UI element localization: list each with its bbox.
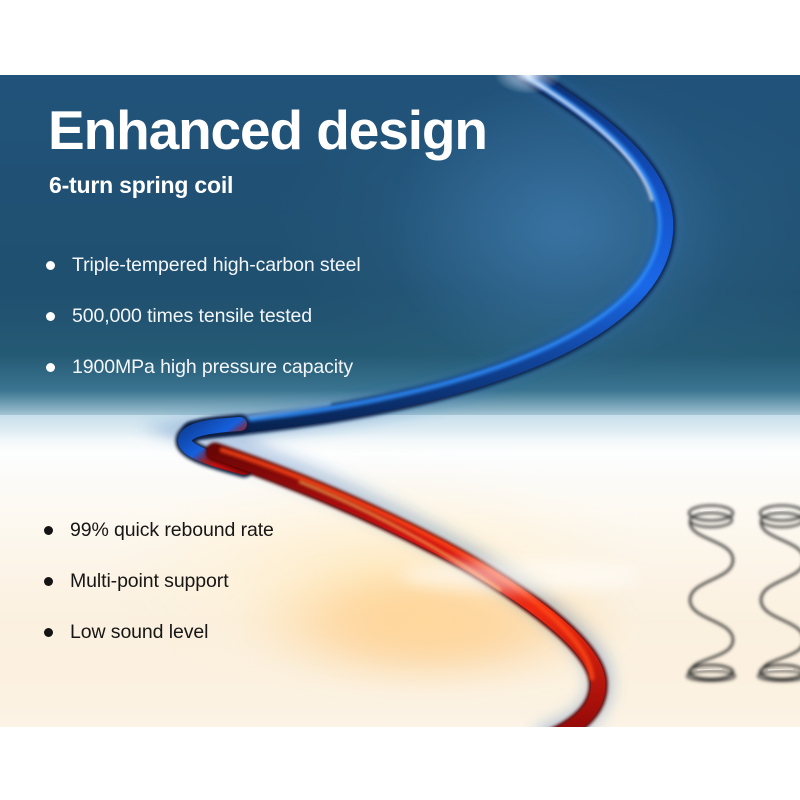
bullet-dot-icon [46, 312, 55, 321]
list-item-label: Multi-point support [70, 570, 229, 593]
page-subtitle: 6-turn spring coil [49, 172, 233, 199]
list-item-label: 1900MPa high pressure capacity [72, 356, 353, 379]
upper-feature-list: Triple-tempered high-carbon steel 500,00… [46, 240, 361, 393]
bottom-white-band [0, 727, 800, 800]
list-item: 1900MPa high pressure capacity [46, 342, 361, 393]
bullet-dot-icon [46, 363, 55, 372]
list-item: Low sound level [44, 607, 274, 658]
page-title: Enhanced design [48, 103, 487, 158]
list-item-label: Triple-tempered high-carbon steel [72, 254, 361, 277]
list-item-label: Low sound level [70, 621, 208, 644]
list-item: 99% quick rebound rate [44, 505, 274, 556]
list-item: 500,000 times tensile tested [46, 291, 361, 342]
list-item-label: 500,000 times tensile tested [72, 305, 312, 328]
list-item: Triple-tempered high-carbon steel [46, 240, 361, 291]
bullet-dot-icon [44, 577, 53, 586]
list-item-label: 99% quick rebound rate [70, 519, 274, 542]
bullet-dot-icon [44, 628, 53, 637]
top-white-band [0, 0, 800, 75]
bullet-dot-icon [44, 526, 53, 535]
product-feature-poster: Enhanced design 6-turn spring coil Tripl… [0, 0, 800, 800]
list-item: Multi-point support [44, 556, 274, 607]
lower-feature-list: 99% quick rebound rate Multi-point suppo… [44, 505, 274, 658]
bullet-dot-icon [46, 261, 55, 270]
light-panel-sheen [0, 433, 800, 479]
